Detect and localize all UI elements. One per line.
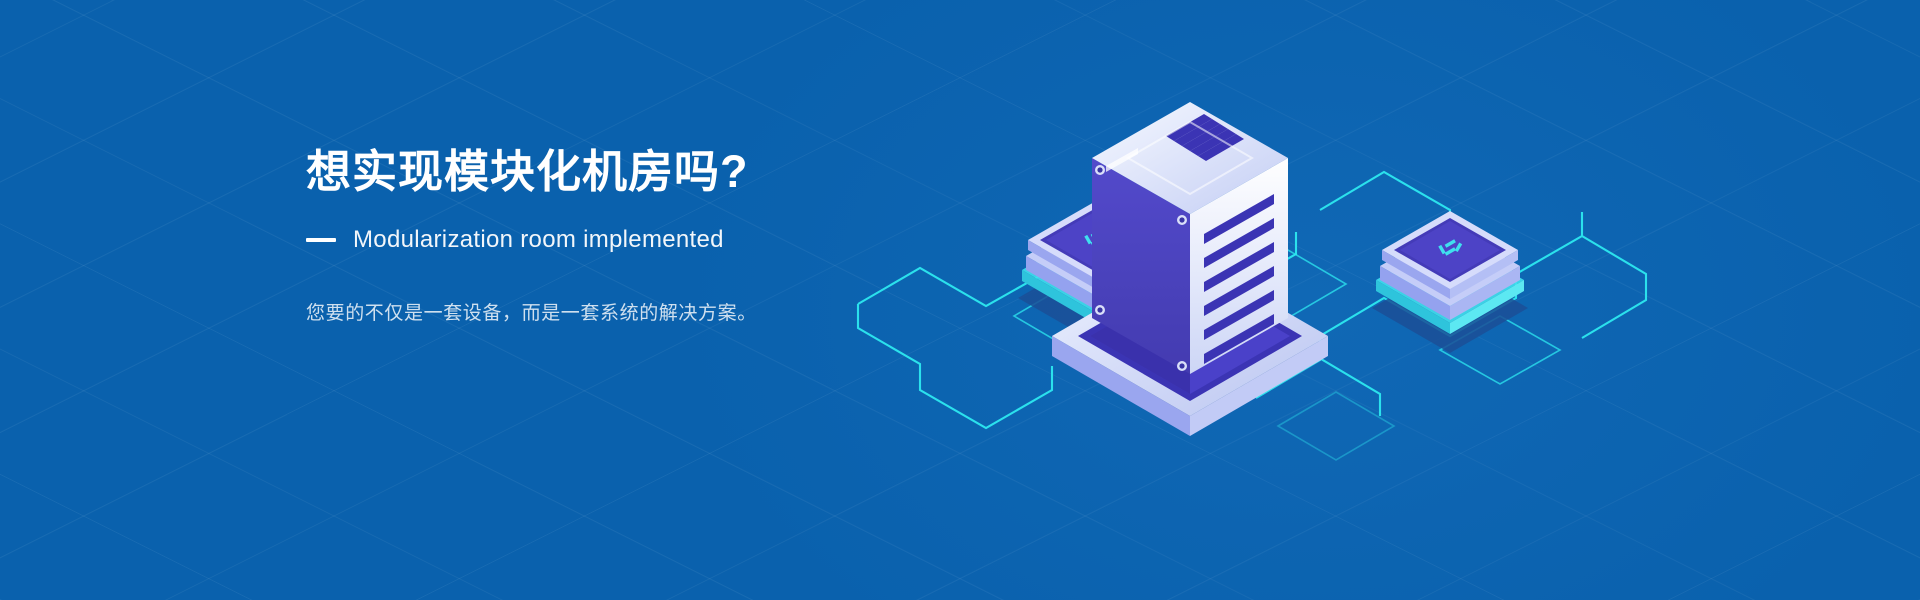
page-subtitle: Modularization room implemented	[353, 226, 724, 254]
server-tower	[1092, 102, 1288, 374]
isometric-server-rack-illustration	[800, 60, 1760, 480]
hero-banner: 想实现模块化机房吗? Modularization room implement…	[0, 0, 1920, 600]
accent-dash-icon	[306, 238, 336, 242]
chip-module-right	[1372, 211, 1528, 353]
